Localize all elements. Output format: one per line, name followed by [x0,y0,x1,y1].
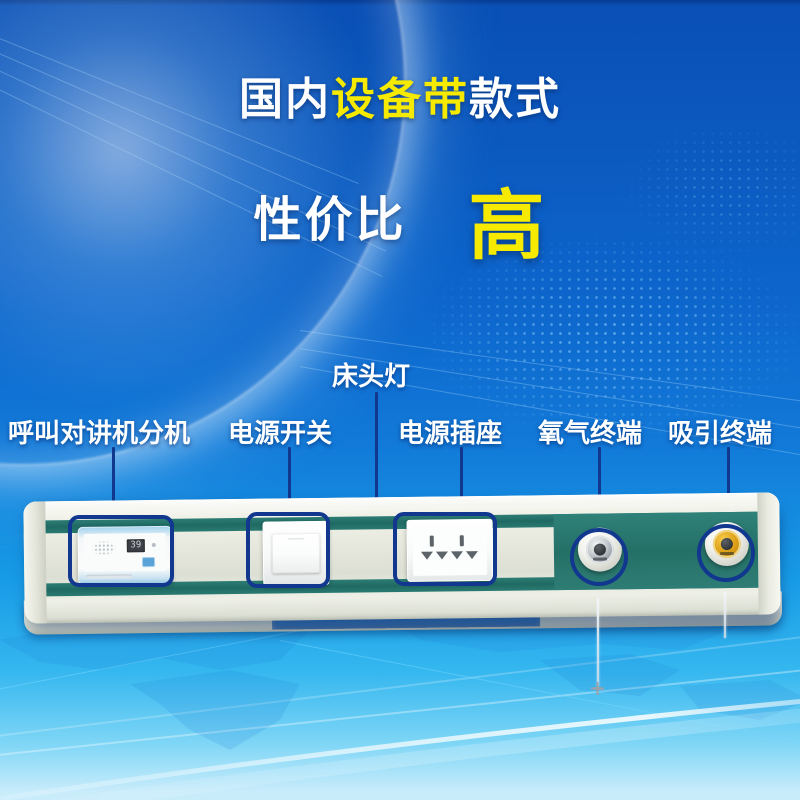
intercom-slot [86,574,132,579]
power-switch-unit[interactable] [263,521,330,586]
subheadline-left: 性价比 [253,180,406,250]
intercom-call-button[interactable] [142,557,155,567]
callout-label-power-switch: 电源开关 [228,413,332,450]
callout-label-oxygen-terminal: 氧气终端 [538,413,642,450]
panel-endcap-left [23,501,46,623]
callout-label-bed-lamp: 床头灯 [332,356,410,393]
oxygen-terminal-ring [586,535,614,563]
oxygen-terminal-core [594,544,606,556]
socket-pin-left-top [430,536,434,547]
socket-pin-right-b [466,551,478,559]
socket-pin-left-a [421,552,433,560]
power-switch-mark [288,538,304,539]
panel-body: 39 [23,492,780,623]
headline-part-2: 设备带 [331,74,469,125]
promo-banner: 国内设备带款式 性价比 高 呼叫对讲机分机 电源开关 床头灯 电源插座 氧气终端… [0,0,800,800]
socket-pin-right-a [451,551,463,559]
status-led-icon [152,543,156,547]
socket-pin-left-b [436,551,448,559]
oxygen-terminal-mark [593,557,607,560]
power-socket-unit[interactable] [407,519,494,582]
oxygen-hose-cord [597,598,599,686]
callout-label-power-socket: 电源插座 [398,413,502,450]
suction-terminal-ring [713,530,741,558]
headline-part-3: 款式 [469,74,561,125]
suction-hose-cord [724,592,726,638]
callout-label-intercom: 呼叫对讲机分机 [8,413,190,450]
socket-pin-right-top [460,535,464,546]
intercom-unit[interactable]: 39 [78,526,173,585]
power-socket-face [413,525,488,576]
oxygen-terminal-unit[interactable] [578,527,623,572]
intercom-display: 39 [127,539,145,552]
headline-part-1: 国内 [239,74,331,125]
speaker-grille-icon [90,539,118,556]
suction-terminal-mark [720,552,734,555]
panel-endcap-right [757,492,780,614]
medical-equipment-panel: 39 [24,497,784,632]
power-switch-rocker[interactable] [272,533,320,574]
callout-label-suction-terminal: 吸引终端 [668,413,772,450]
intercom-face: 39 [84,533,166,572]
headline: 国内设备带款式 [0,78,800,122]
subheadline: 性价比 高 [0,160,800,270]
suction-terminal-core [721,538,733,550]
subheadline-right: 高 [469,164,547,274]
